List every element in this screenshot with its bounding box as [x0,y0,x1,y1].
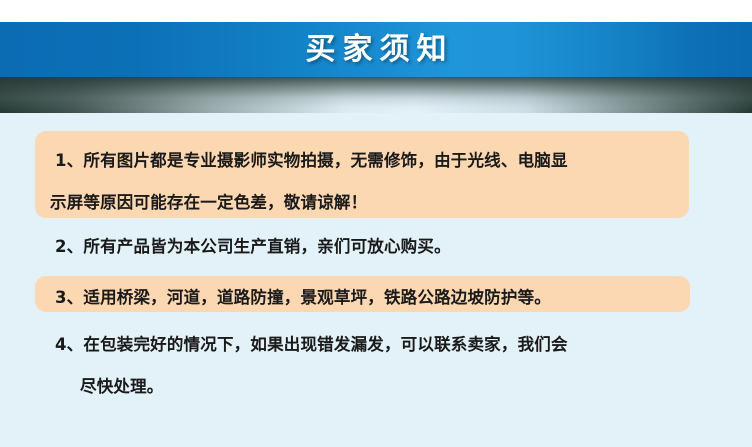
page-title: 买家须知 [0,22,752,77]
notice-item-1: 1、所有图片都是专业摄影师实物拍摄，无需修饰，由于光线、电脑显 示屏等原因可能存… [35,131,689,218]
notice-item-2: 2、所有产品皆为本公司生产直销，亲们可放心购买。 [35,225,689,261]
notice-item-4-line-2: 尽快处理。 [80,373,164,397]
notice-item-1-line-2: 示屏等原因可能存在一定色差，敬请谅解！ [50,189,367,213]
header-banner: 买家须知 [0,22,752,77]
notice-item-4: 4、在包装完好的情况下，如果出现错发漏发，可以联系卖家，我们会 尽快处理。 [35,323,689,403]
notice-item-3-line-1: 3、适用桥梁，河道，道路防撞，景观草坪，铁路公路边坡防护等。 [55,284,551,308]
notice-list: 1、所有图片都是专业摄影师实物拍摄，无需修饰，由于光线、电脑显 示屏等原因可能存… [0,77,752,447]
top-white-strip [0,0,752,22]
notice-item-1-line-1: 1、所有图片都是专业摄影师实物拍摄，无需修饰，由于光线、电脑显 [55,147,568,171]
notice-item-2-line-1: 2、所有产品皆为本公司生产直销，亲们可放心购买。 [55,233,451,257]
notice-item-3: 3、适用桥梁，河道，道路防撞，景观草坪，铁路公路边坡防护等。 [35,276,690,312]
buyer-notice-page: 买家须知 1、所有图片都是专业摄影师实物拍摄，无需修饰，由于光线、电脑显 示屏等… [0,0,752,447]
notice-item-4-line-1: 4、在包装完好的情况下，如果出现错发漏发，可以联系卖家，我们会 [55,331,568,355]
